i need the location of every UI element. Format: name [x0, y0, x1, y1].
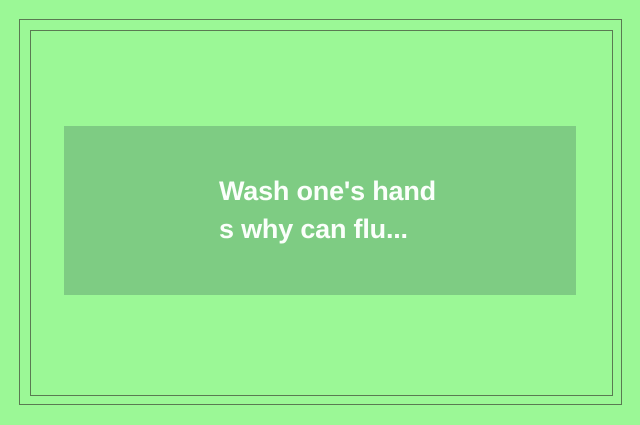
- banner-message-text: Wash one's hand s why can flu...: [219, 172, 549, 248]
- screenshot-canvas: Wash one's hand s why can flu...: [0, 0, 640, 425]
- text-banner-panel: Wash one's hand s why can flu...: [64, 126, 576, 295]
